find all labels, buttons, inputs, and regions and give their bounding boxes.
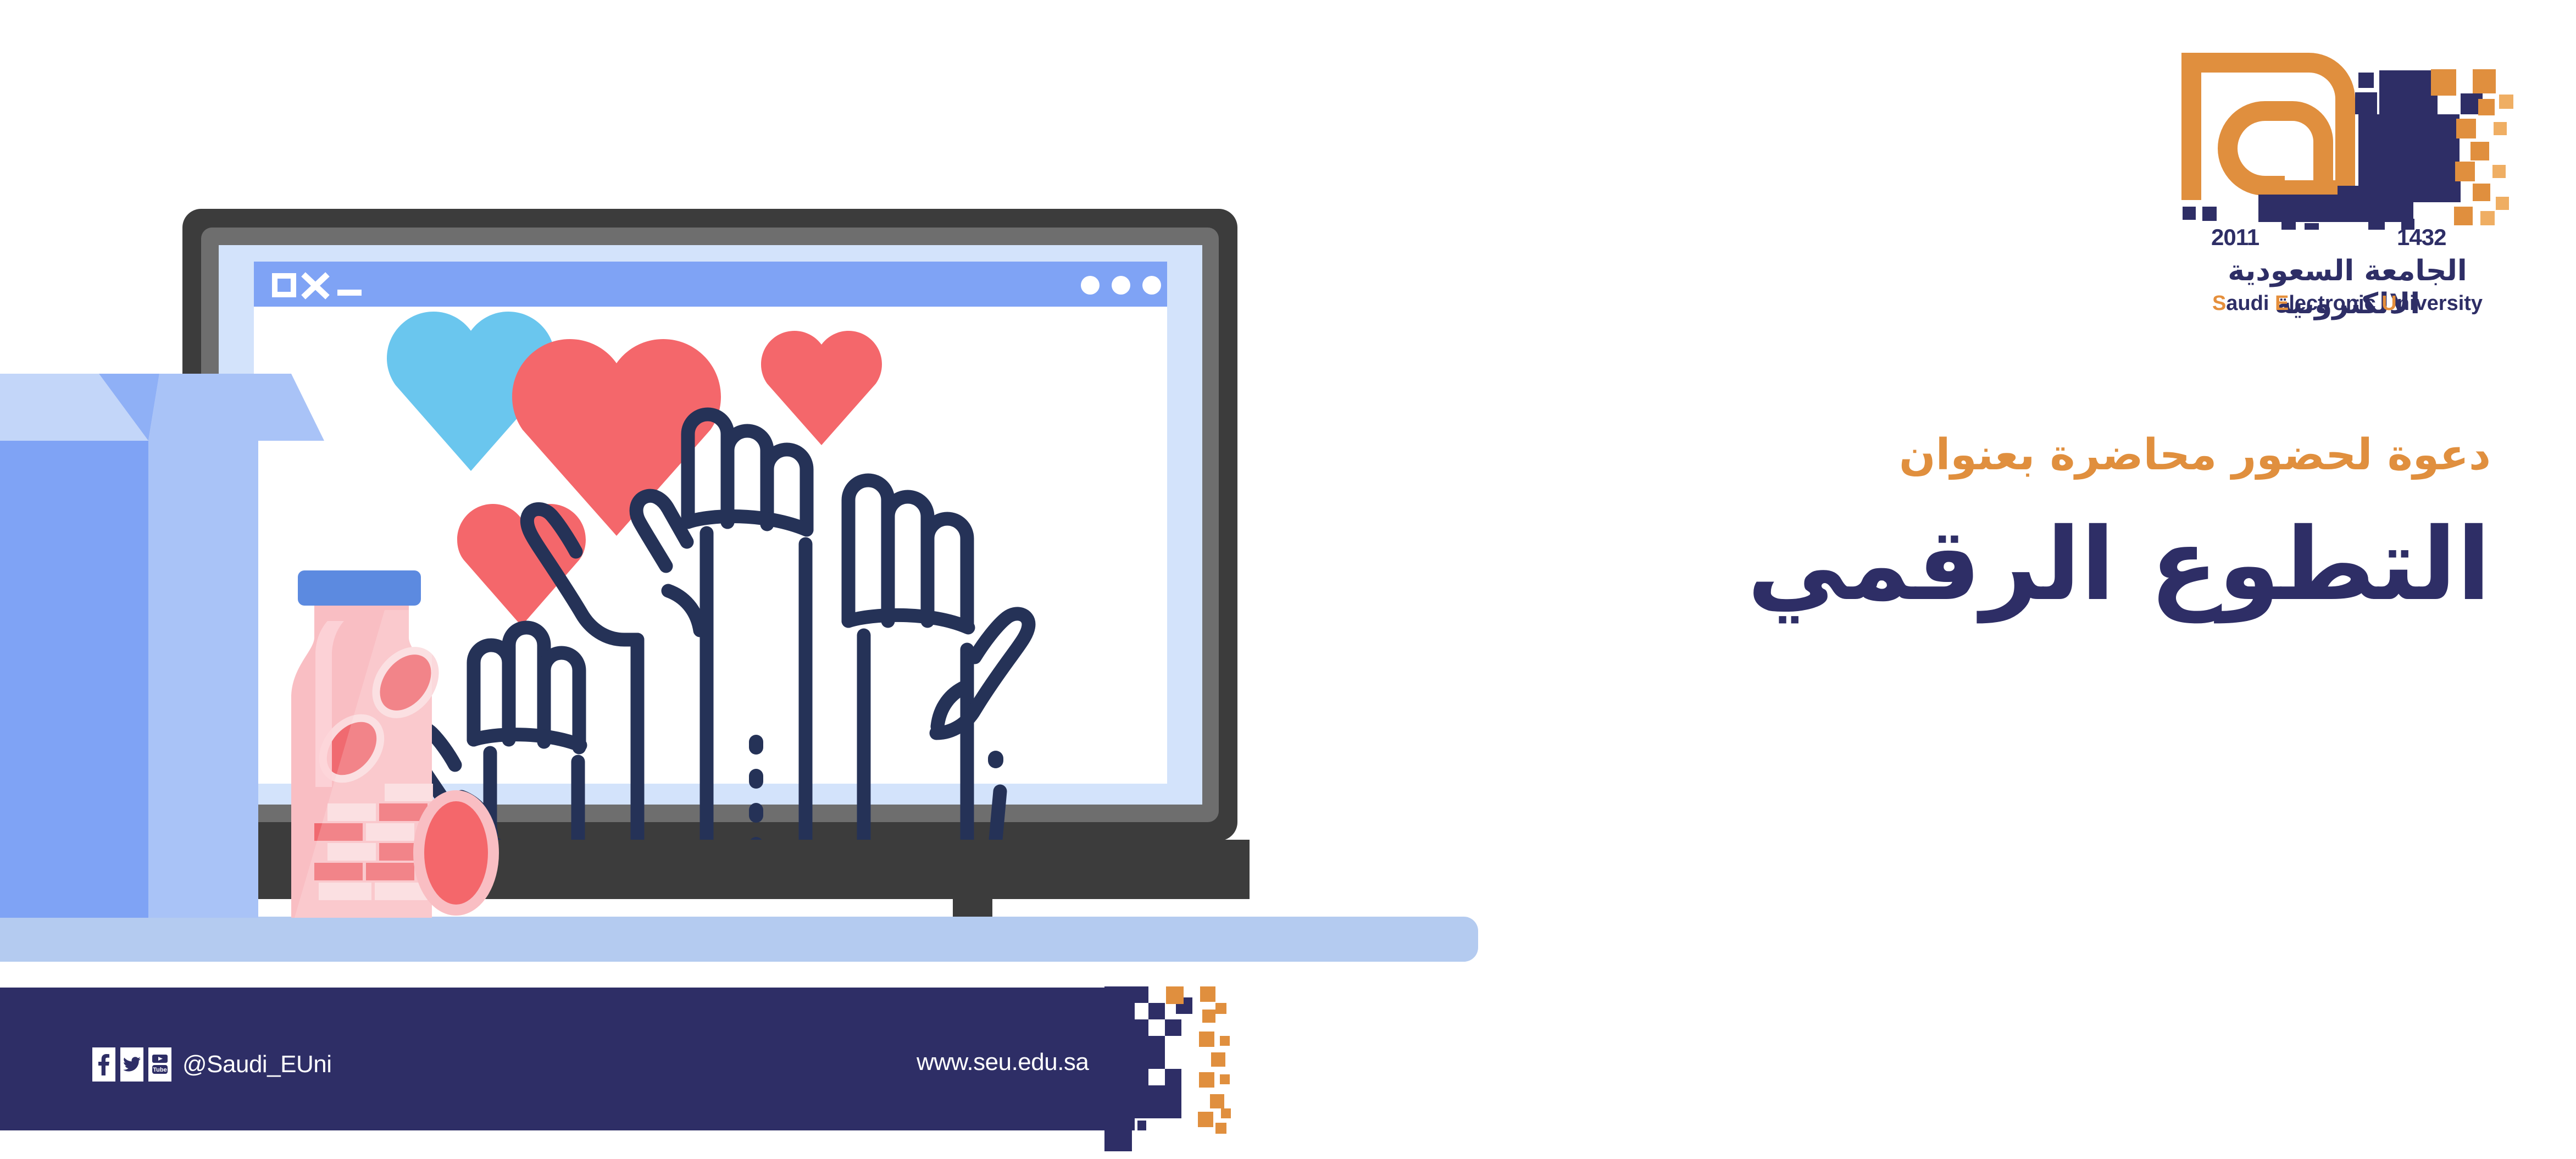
at-sign-icon (2181, 53, 2355, 200)
dot-2 (1112, 276, 1130, 295)
box-body-right (148, 441, 258, 918)
logo-name-english: Saudi Electronic University (2177, 292, 2518, 315)
jar-lid (298, 570, 421, 606)
logo-year-gregorian: 2011 (2211, 224, 2259, 251)
social-links: Tube @Saudi_EUni (92, 1047, 332, 1082)
logo-en-e: E (2275, 292, 2289, 315)
facebook-glyph (97, 1053, 111, 1075)
footer-pixel-dissolve (1104, 986, 1264, 1151)
youtube-icon[interactable]: Tube (148, 1047, 171, 1082)
youtube-glyph: Tube (152, 1053, 168, 1075)
logo-en-niversity: niversity (2397, 292, 2483, 315)
facebook-icon[interactable] (92, 1047, 115, 1082)
logo-en-s: S (2212, 292, 2226, 315)
dot-3 (1142, 276, 1161, 295)
twitter-glyph (123, 1057, 141, 1072)
shelf (0, 917, 1478, 962)
svg-text:Tube: Tube (153, 1067, 166, 1073)
footer-pixel-svg (1104, 986, 1264, 1151)
social-handle[interactable]: @Saudi_EUni (182, 1051, 332, 1078)
coin-standing (419, 796, 493, 910)
headline-block: دعوة لحضور محاضرة بعنوان التطوع الرقمي (1172, 429, 2491, 620)
logo-en-u: U (2381, 292, 2396, 315)
website-url[interactable]: www.seu.edu.sa (917, 1049, 1089, 1076)
logo-year-hijri: 1432 (2397, 224, 2446, 251)
dot-1 (1081, 276, 1100, 295)
logo-en-lectronic: lectronic (2289, 292, 2381, 315)
logo-years: 2011 1432 (2177, 224, 2518, 257)
minimize-icon[interactable] (337, 290, 362, 296)
twitter-icon[interactable] (120, 1047, 143, 1082)
page-title: التطوع الرقمي (1172, 509, 2491, 621)
seu-logo: 2011 1432 الجامعة السعودية الالكترونية S… (2177, 48, 2518, 323)
browser-titlebar (254, 262, 1167, 307)
logo-en-audi: audi (2226, 292, 2275, 315)
lecture-invitation-kicker: دعوة لحضور محاضرة بعنوان (1172, 429, 2491, 483)
titlebar-dots (1081, 276, 1161, 295)
box-body-left (0, 441, 148, 918)
seu-logo-mark (2177, 48, 2518, 230)
